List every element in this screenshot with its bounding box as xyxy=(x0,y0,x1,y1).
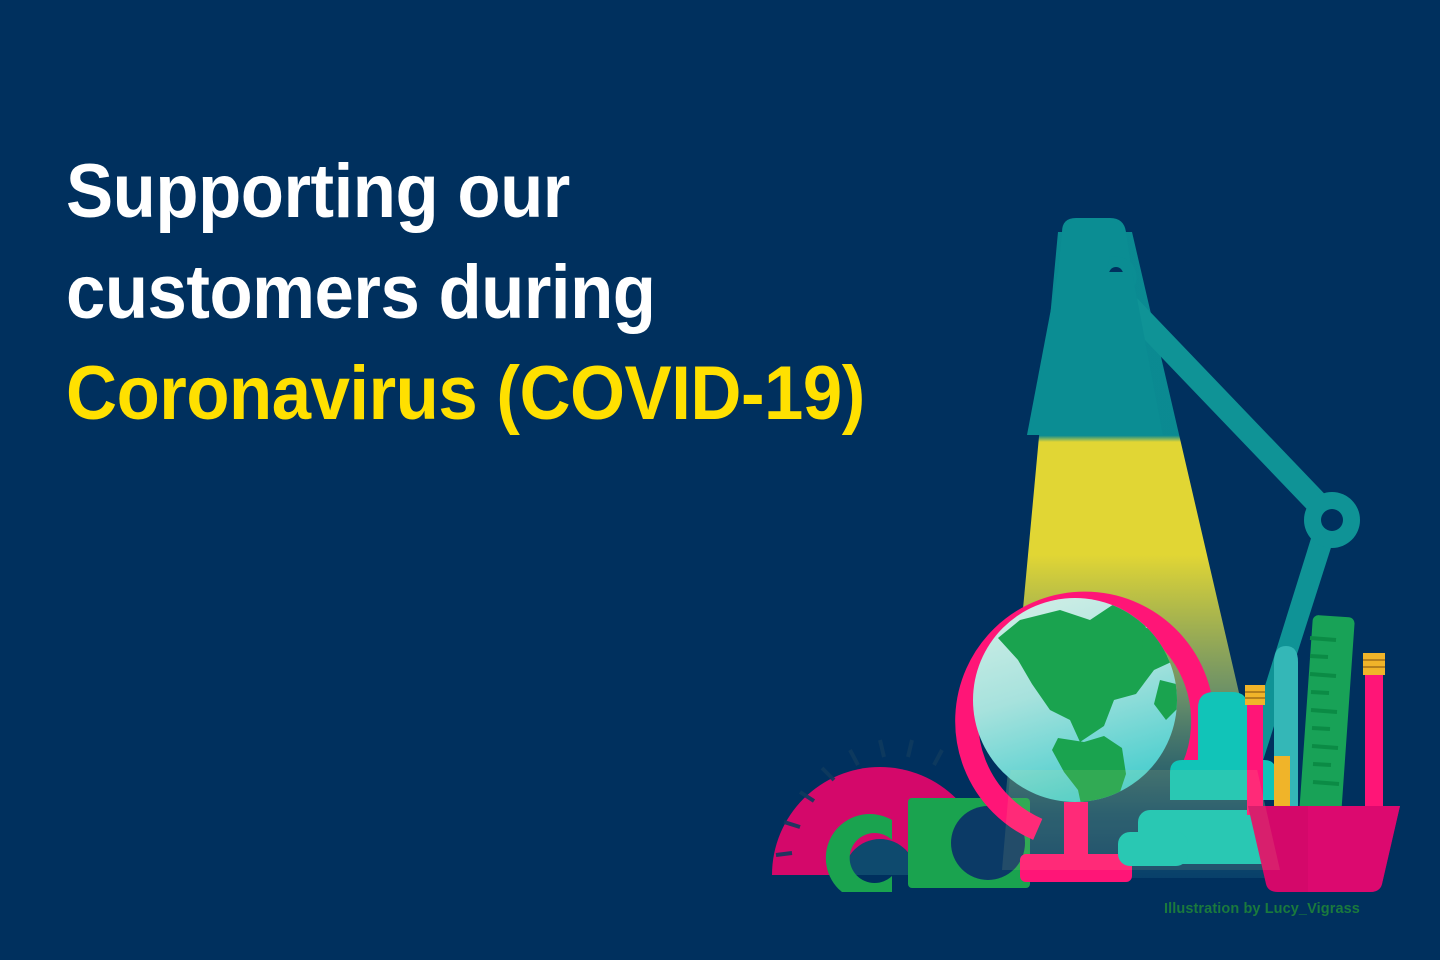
poster-canvas: Supporting our customers during Coronavi… xyxy=(0,0,1440,960)
pencil-right-ferrule xyxy=(1363,653,1385,675)
pencil-pot-highlight xyxy=(1308,806,1400,892)
pencil-left-ferrule xyxy=(1245,685,1265,705)
pen-clip xyxy=(1274,756,1290,810)
pencil-right xyxy=(1363,653,1385,814)
desk-lamp-illustration xyxy=(740,210,1440,930)
lamp-joint-hole xyxy=(1321,509,1343,531)
lamp-joint xyxy=(1304,492,1360,548)
pen xyxy=(1274,646,1298,812)
illustration-credit: Illustration by Lucy_Vigrass xyxy=(1164,901,1360,917)
